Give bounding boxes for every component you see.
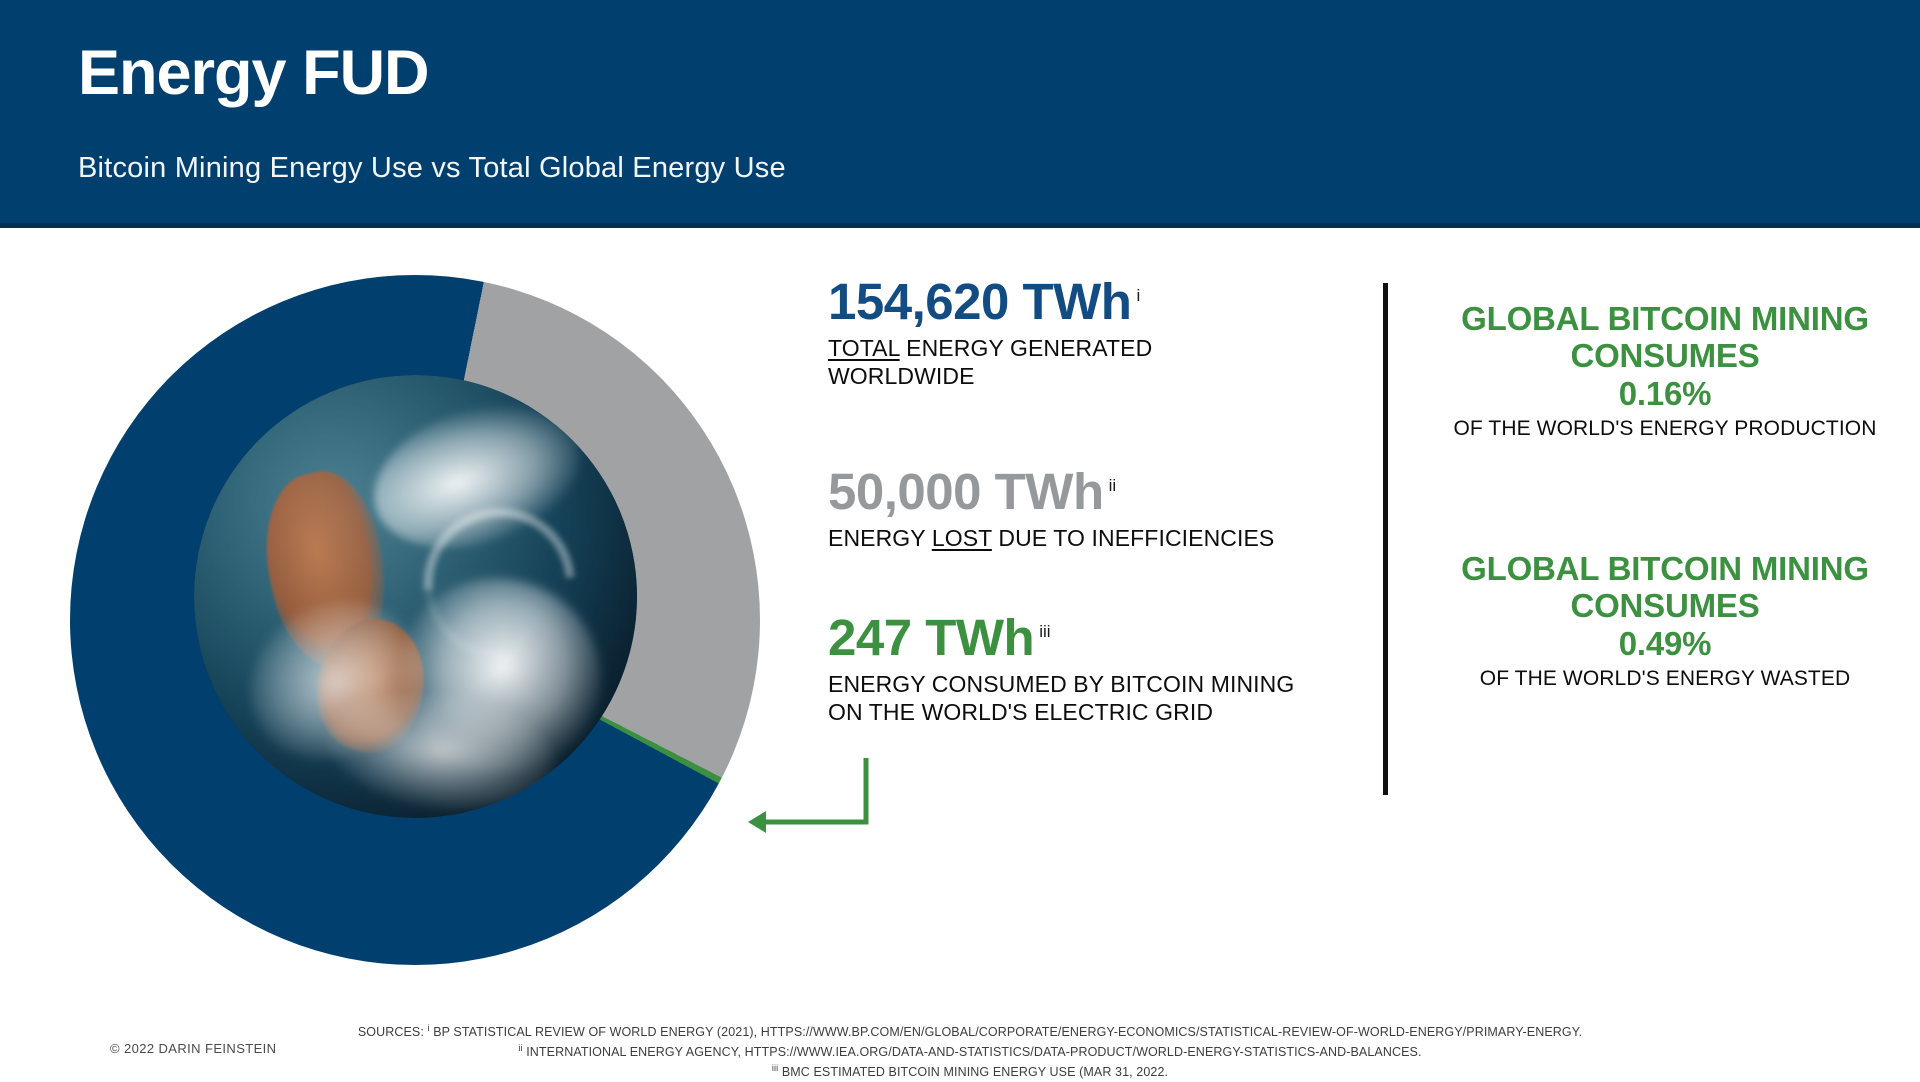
source-marker-ii: ii [518, 1043, 522, 1053]
source-text-3: BMC ESTIMATED BITCOIN MINING ENERGY USE … [782, 1065, 1168, 1079]
page-title: Energy FUD [78, 40, 429, 106]
callout-arrow-icon [740, 758, 880, 848]
stat-total-energy-label: TOTAL ENERGY GENERATED WORLDWIDE [828, 334, 1298, 390]
highlight-1-sublabel: OF THE WORLD'S ENERGY PRODUCTION [1430, 416, 1900, 441]
stat-2-suffix: DUE TO INEFFICIENCIES [992, 525, 1275, 551]
highlight-2-headline: GLOBAL BITCOIN MINING CONSUMES [1430, 550, 1900, 625]
sources-footnotes: SOURCES: i BP STATISTICAL REVIEW OF WORL… [300, 1022, 1640, 1082]
source-text-2: INTERNATIONAL ENERGY AGENCY, HTTPS://WWW… [526, 1045, 1421, 1059]
energy-pie-chart [70, 275, 760, 965]
highlight-energy-wasted: GLOBAL BITCOIN MINING CONSUMES 0.49% OF … [1430, 550, 1900, 691]
stat-bitcoin-mining: 247 TWhiii ENERGY CONSUMED BY BITCOIN MI… [828, 612, 1298, 726]
source-marker-i: i [428, 1023, 430, 1033]
highlight-1-headline: GLOBAL BITCOIN MINING CONSUMES [1430, 300, 1900, 375]
stat-total-energy-value: 154,620 TWhi [828, 276, 1298, 327]
copyright-notice: © 2022 DARIN FEINSTEIN [110, 1041, 276, 1056]
header-bottom-edge [0, 223, 1920, 228]
footnote-marker-ii: ii [1109, 476, 1117, 495]
footnote-marker-iii: iii [1039, 622, 1050, 641]
source-marker-iii: iii [772, 1063, 778, 1073]
stat-bitcoin-mining-value: 247 TWhiii [828, 612, 1298, 663]
page-subtitle: Bitcoin Mining Energy Use vs Total Globa… [78, 152, 786, 185]
source-line-2: ii INTERNATIONAL ENERGY AGENCY, HTTPS://… [300, 1042, 1640, 1062]
stat-energy-lost-value: 50,000 TWhii [828, 466, 1298, 517]
stat-total-energy: 154,620 TWhi TOTAL ENERGY GENERATED WORL… [828, 276, 1298, 390]
stat-1-emphasis: TOTAL [828, 335, 900, 361]
source-line-1: SOURCES: i BP STATISTICAL REVIEW OF WORL… [300, 1022, 1640, 1042]
source-line-3: iii BMC ESTIMATED BITCOIN MINING ENERGY … [300, 1062, 1640, 1082]
source-text-1: BP STATISTICAL REVIEW OF WORLD ENERGY (2… [433, 1025, 1582, 1039]
column-divider [1383, 283, 1388, 795]
highlight-2-sublabel: OF THE WORLD'S ENERGY WASTED [1430, 666, 1900, 691]
footnote-marker-i: i [1136, 286, 1140, 305]
stat-energy-lost-label: ENERGY LOST DUE TO INEFFICIENCIES [828, 524, 1298, 552]
stat-energy-lost: 50,000 TWhii ENERGY LOST DUE TO INEFFICI… [828, 466, 1298, 552]
stat-2-emphasis: LOST [932, 525, 992, 551]
earth-globe-image [194, 375, 637, 818]
globe-shading [194, 375, 637, 818]
stat-2-prefix: ENERGY [828, 525, 932, 551]
highlight-2-percent: 0.49% [1430, 625, 1900, 664]
stat-bitcoin-mining-label: ENERGY CONSUMED BY BITCOIN MINING ON THE… [828, 670, 1298, 726]
page-header: Energy FUD Bitcoin Mining Energy Use vs … [0, 0, 1920, 228]
sources-label: SOURCES: [358, 1025, 424, 1039]
highlight-1-percent: 0.16% [1430, 375, 1900, 414]
highlight-energy-production: GLOBAL BITCOIN MINING CONSUMES 0.16% OF … [1430, 300, 1900, 441]
